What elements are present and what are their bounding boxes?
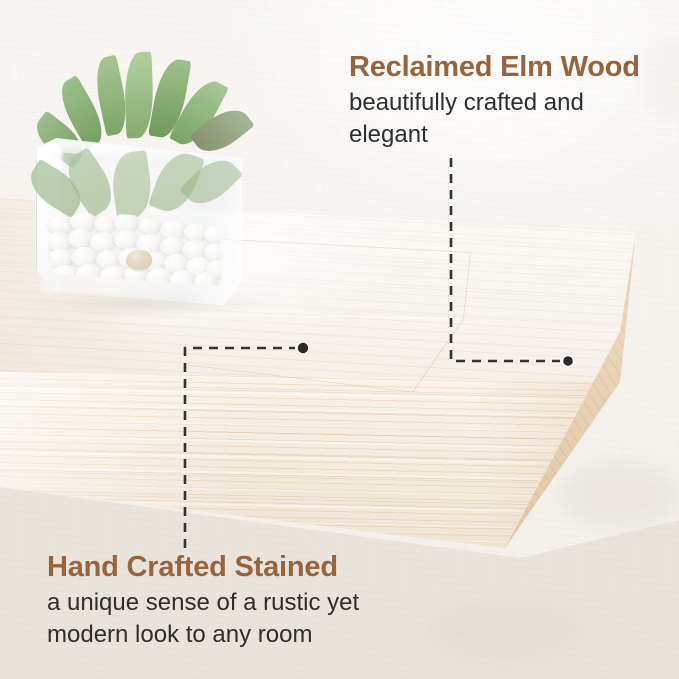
callout-bottom-left-body-line-1: a unique sense of a rustic yet — [47, 589, 359, 616]
pebble-tan — [126, 250, 152, 270]
shelf-front-shading — [0, 350, 679, 570]
succulent-plant-decor — [22, 52, 272, 312]
callout-top-right-body-line-1: beautifully crafted and — [349, 89, 584, 116]
callout-bottom-left: Hand Crafted Stained a unique sense of a… — [47, 552, 397, 650]
callout-top-right: Reclaimed Elm Wood beautifully crafted a… — [349, 52, 671, 150]
callout-bottom-left-body: a unique sense of a rustic yet modern lo… — [47, 587, 397, 649]
callout-top-right-body: beautifully crafted and elegant — [349, 87, 671, 149]
callout-bottom-left-heading: Hand Crafted Stained — [47, 552, 397, 582]
callout-top-right-heading: Reclaimed Elm Wood — [349, 52, 671, 82]
product-infographic-scene: Reclaimed Elm Wood beautifully crafted a… — [0, 0, 679, 679]
callout-top-right-body-line-2: elegant — [349, 121, 428, 148]
callout-bottom-left-body-line-2: modern look to any room — [47, 621, 312, 648]
